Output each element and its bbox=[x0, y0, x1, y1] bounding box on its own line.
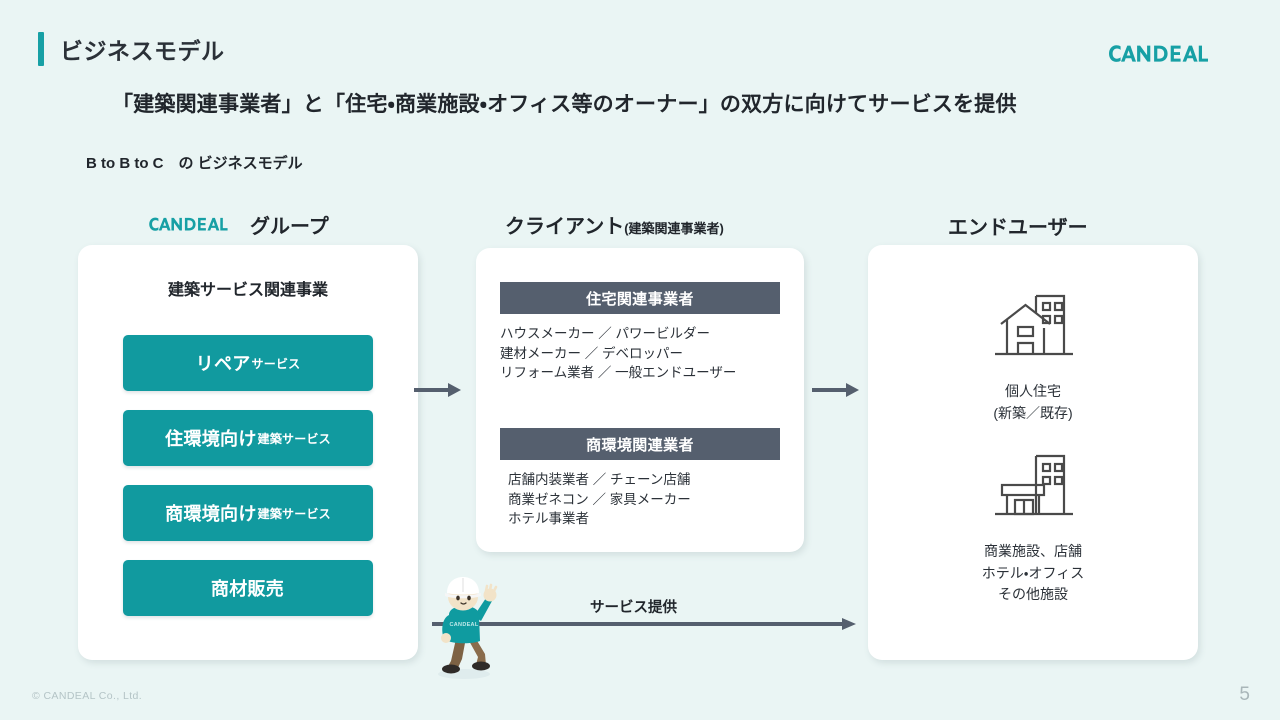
column-heading-client: クライアント (建築関連事業者) bbox=[505, 210, 724, 239]
column-heading-end-user: エンドユーザー bbox=[948, 211, 1088, 240]
column-heading-client-note: (建築関連事業者) bbox=[624, 218, 724, 237]
arrow-client-to-end-user bbox=[812, 380, 860, 400]
client-group-lines: ハウスメーカー ／ パワービルダー 建材メーカー ／ デベロッパー リフォーム業… bbox=[500, 324, 780, 383]
page-number: 5 bbox=[1239, 684, 1250, 706]
model-label: B to B to C の ビジネスモデル bbox=[86, 152, 303, 173]
candeal-logo bbox=[1108, 40, 1248, 68]
service-box-sub: 建築サービス bbox=[257, 505, 331, 522]
end-user-caption-line: ホテル・オフィス bbox=[982, 563, 1084, 585]
client-group-lines: 店舗内装業者 ／ チェーン店舗 商業ゼネコン ／ 家具メーカー ホテル事業者 bbox=[500, 470, 780, 529]
title-accent-bar bbox=[38, 32, 44, 66]
client-group-header: 住宅関連事業者 bbox=[500, 282, 780, 314]
client-group: 住宅関連事業者 ハウスメーカー ／ パワービルダー 建材メーカー ／ デベロッパ… bbox=[500, 282, 780, 383]
end-user-caption: 商業施設、店舗 ホテル・オフィス その他施設 bbox=[982, 541, 1084, 606]
panel-end-user: 個人住宅 (新築／既存) bbox=[868, 245, 1198, 660]
service-provision-label: サービス提供 bbox=[590, 596, 677, 617]
client-group: 商環境関連業者 店舗内装業者 ／ チェーン店舗 商業ゼネコン ／ 家具メーカー … bbox=[500, 428, 780, 529]
service-box-sub: サービス bbox=[251, 355, 301, 372]
column-heading-end-user-label: エンドユーザー bbox=[948, 211, 1088, 240]
service-box[interactable]: 商材販売 bbox=[123, 560, 373, 616]
service-box-main: 商材販売 bbox=[211, 575, 284, 601]
page-title: ビジネスモデル bbox=[38, 32, 225, 66]
panel-client: 住宅関連事業者 ハウスメーカー ／ パワービルダー 建材メーカー ／ デベロッパ… bbox=[476, 248, 804, 552]
client-line: ホテル事業者 bbox=[508, 509, 780, 529]
client-line: ハウスメーカー ／ パワービルダー bbox=[500, 324, 780, 344]
mascot-shirt-logo: CANDEAL bbox=[450, 622, 479, 628]
column-heading-group-label: グループ bbox=[250, 210, 329, 239]
column-heading-client-label: クライアント bbox=[505, 210, 624, 239]
slide-subtitle: 「建築関連事業者」と「住宅・商業施設・オフィス等のオーナー」の双方に向けてサービ… bbox=[112, 88, 1017, 118]
house-icon bbox=[987, 283, 1079, 367]
end-user-caption: 個人住宅 (新築／既存) bbox=[993, 381, 1072, 424]
end-user-caption-line: 個人住宅 bbox=[993, 381, 1072, 403]
slide-canvas: ビジネスモデル 「建築関連事業者」と「住宅・商業施設・オフィス等のオーナー」の双… bbox=[0, 0, 1280, 720]
column-heading-group: グループ bbox=[134, 210, 329, 239]
client-line: 店舗内装業者 ／ チェーン店舗 bbox=[508, 470, 780, 490]
end-user-caption-line: (新築／既存) bbox=[993, 403, 1072, 425]
footer-copyright: © CANDEAL Co., Ltd. bbox=[32, 690, 142, 702]
commercial-building-icon bbox=[987, 443, 1079, 527]
service-box[interactable]: リペアサービス bbox=[123, 335, 373, 391]
client-group-header: 商環境関連業者 bbox=[500, 428, 780, 460]
candeal-mascot: CANDEAL bbox=[424, 573, 504, 683]
end-user-item: 商業施設、店舗 ホテル・オフィス その他施設 bbox=[868, 443, 1198, 606]
title-text: ビジネスモデル bbox=[60, 32, 225, 66]
service-box-sub: 建築サービス bbox=[257, 430, 331, 447]
end-user-caption-line: 商業施設、店舗 bbox=[982, 541, 1084, 563]
service-box[interactable]: 商環境向け建築サービス bbox=[123, 485, 373, 541]
client-line: リフォーム業者 ／ 一般エンドユーザー bbox=[500, 363, 780, 383]
end-user-caption-line: その他施設 bbox=[982, 584, 1084, 606]
service-box-main: 住環境向け bbox=[165, 425, 257, 451]
arrow-group-to-client bbox=[414, 380, 462, 400]
candeal-logo-inline bbox=[134, 215, 242, 234]
panel-group-title: 建築サービス関連事業 bbox=[78, 276, 418, 300]
client-line: 商業ゼネコン ／ 家具メーカー bbox=[508, 490, 780, 510]
panel-candeal-group: 建築サービス関連事業 リペアサービス 住環境向け建築サービス 商環境向け建築サー… bbox=[78, 245, 418, 660]
service-box-list: リペアサービス 住環境向け建築サービス 商環境向け建築サービス 商材販売 bbox=[123, 335, 373, 616]
client-line: 建材メーカー ／ デベロッパー bbox=[500, 344, 780, 364]
service-box[interactable]: 住環境向け建築サービス bbox=[123, 410, 373, 466]
service-box-main: リペア bbox=[196, 350, 251, 376]
end-user-item: 個人住宅 (新築／既存) bbox=[868, 283, 1198, 424]
service-box-main: 商環境向け bbox=[165, 500, 257, 526]
